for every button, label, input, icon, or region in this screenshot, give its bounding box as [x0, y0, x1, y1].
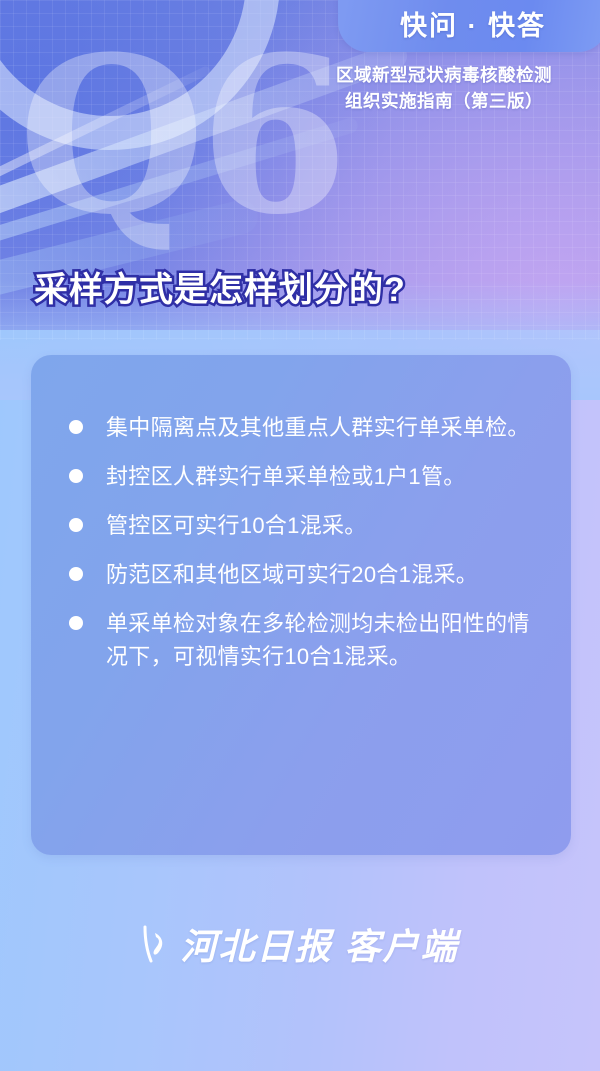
footer-brand-text: 河北日报客户端: [180, 918, 458, 970]
list-item: 防范区和其他区域可实行20合1混采。: [61, 558, 541, 591]
list-item-text: 防范区和其他区域可实行20合1混采。: [106, 558, 478, 591]
list-item: 集中隔离点及其他重点人群实行单采单检。: [61, 411, 541, 444]
answer-card: 集中隔离点及其他重点人群实行单采单检。 封控区人群实行单采单检或1户1管。 管控…: [31, 355, 571, 855]
subtitle-line-1: 区域新型冠状病毒核酸检测: [300, 62, 588, 88]
bullet-dot-icon: [69, 518, 83, 532]
list-item-text: 集中隔离点及其他重点人群实行单采单检。: [106, 411, 530, 444]
list-item: 管控区可实行10合1混采。: [61, 509, 541, 542]
bullet-dot-icon: [69, 567, 83, 581]
list-item: 封控区人群实行单采单检或1户1管。: [61, 460, 541, 493]
bullet-dot-icon: [69, 469, 83, 483]
footer-logo: 河北日报客户端: [0, 918, 600, 970]
bullet-dot-icon: [69, 616, 83, 630]
kuaiwen-kuaida-badge: 快问 · 快答: [338, 0, 600, 52]
badge-label: 快问 · 快答: [400, 4, 546, 43]
poster-canvas: Q6 快问 · 快答 区域新型冠状病毒核酸检测 组织实施指南（第三版） 采样方式…: [0, 0, 600, 1071]
poster-subtitle: 区域新型冠状病毒核酸检测 组织实施指南（第三版）: [300, 62, 588, 114]
footer-brand-name: 河北日报: [180, 926, 332, 968]
bullet-dot-icon: [69, 420, 83, 434]
subtitle-line-2: 组织实施指南（第三版）: [300, 88, 588, 114]
list-item: 单采单检对象在多轮检测均未检出阳性的情况下，可视情实行10合1混采。: [61, 607, 541, 673]
question-number-watermark: Q6: [18, 28, 343, 243]
list-item-text: 封控区人群实行单采单检或1户1管。: [106, 460, 466, 493]
list-item-text: 单采单检对象在多轮检测均未检出阳性的情况下，可视情实行10合1混采。: [106, 607, 536, 673]
question-heading: 采样方式是怎样划分的?: [34, 262, 406, 311]
answer-bullet-list: 集中隔离点及其他重点人群实行单采单检。 封控区人群实行单采单检或1户1管。 管控…: [61, 411, 541, 673]
footer-app-name: 客户端: [345, 926, 459, 968]
list-item-text: 管控区可实行10合1混采。: [106, 509, 367, 542]
hebei-daily-logo-icon: [141, 923, 171, 965]
